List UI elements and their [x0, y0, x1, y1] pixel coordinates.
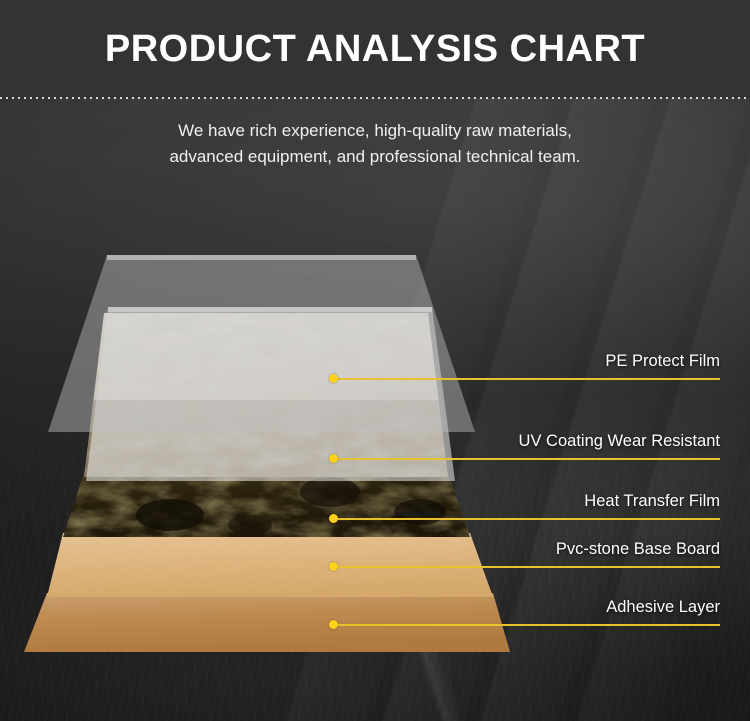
callout-dot [329, 374, 338, 383]
callout-leader-line [337, 566, 720, 568]
callout-dot [329, 620, 338, 629]
callout-group: PE Protect Film UV Coating Wear Resistan… [0, 0, 750, 721]
callout-leader-line [337, 458, 720, 460]
callout-label-pe-protect-film: PE Protect Film [605, 352, 720, 371]
callout-dot [329, 562, 338, 571]
callout-dot [329, 514, 338, 523]
callout-leader-line [337, 378, 720, 380]
product-analysis-chart-page: PRODUCT ANALYSIS CHART We have rich expe… [0, 0, 750, 721]
callout-leader-line [337, 518, 720, 520]
callout-label-adhesive-layer: Adhesive Layer [606, 598, 720, 617]
callout-leader-line [337, 624, 720, 626]
callout-label-heat-transfer-film: Heat Transfer Film [584, 492, 720, 511]
callout-label-pvc-stone-base-board: Pvc-stone Base Board [556, 540, 720, 559]
callout-label-uv-coating-wear-resistant: UV Coating Wear Resistant [519, 432, 720, 451]
callout-dot [329, 454, 338, 463]
